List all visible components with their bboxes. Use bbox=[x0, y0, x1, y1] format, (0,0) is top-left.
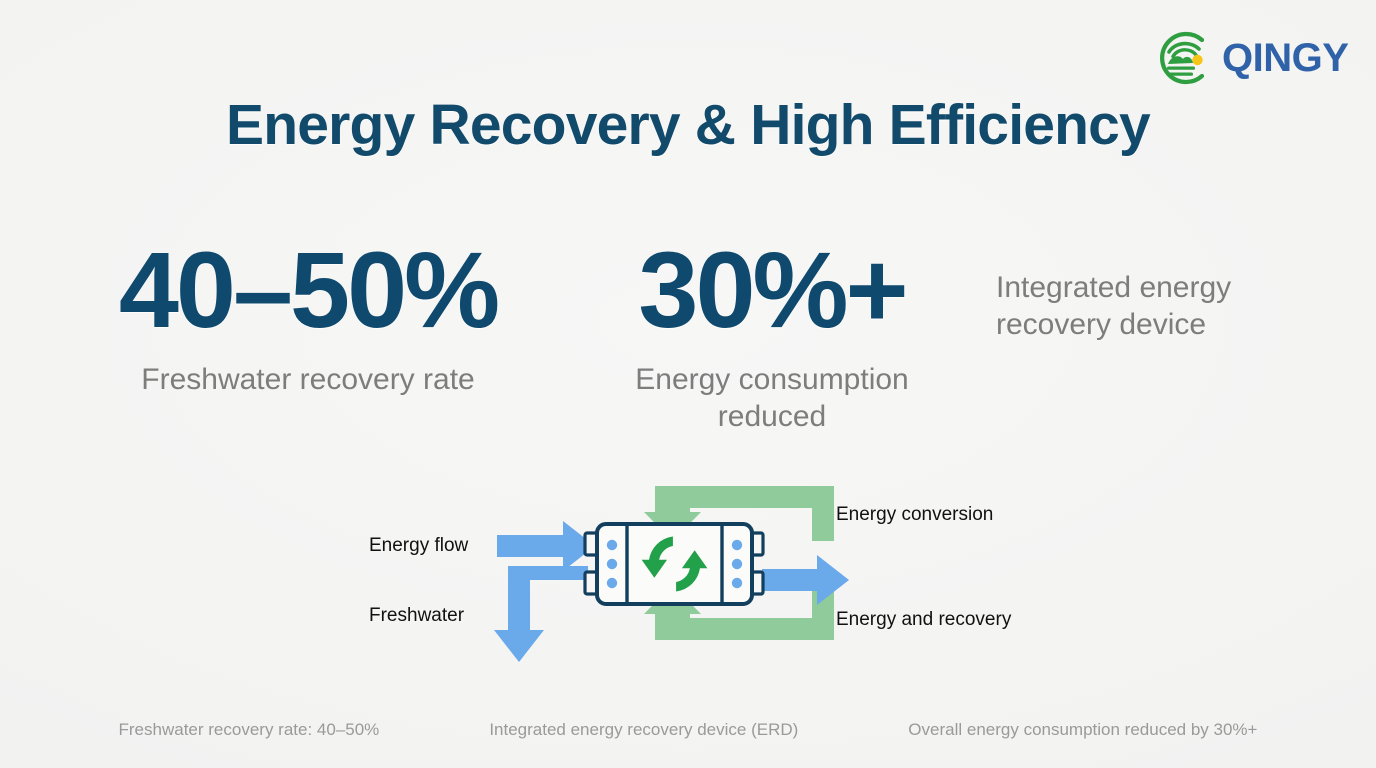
freshwater-arrow bbox=[494, 566, 588, 662]
stat-energy-reduction: 30%+ Energy consumption reduced bbox=[592, 236, 952, 435]
diagram-label-energy-and-recovery: Energy and recovery bbox=[836, 609, 1011, 631]
stat-value: 40–50% bbox=[78, 236, 538, 344]
recycle-arrows-icon bbox=[642, 536, 708, 591]
brand-logo: QINGY bbox=[1152, 26, 1348, 90]
footer-note-item: Freshwater recovery rate: 40–50% bbox=[119, 720, 380, 740]
energy-flow-arrow bbox=[497, 521, 595, 571]
energy-recovery-device-icon bbox=[585, 524, 763, 604]
diagram-label-energy-conversion: Energy conversion bbox=[836, 504, 993, 526]
diagram-label-freshwater: Freshwater bbox=[369, 605, 464, 627]
stat-integrated-device: Integrated energy recovery device bbox=[996, 270, 1326, 343]
stat-label: Freshwater recovery rate bbox=[78, 362, 538, 399]
stat-value: 30%+ bbox=[592, 236, 952, 344]
brand-name: QINGY bbox=[1222, 38, 1348, 78]
green-loop-bottom-path bbox=[644, 585, 834, 640]
footer-note-item: Integrated energy recovery device (ERD) bbox=[489, 720, 798, 740]
slide-canvas: QINGY Energy Recovery & High Efficiency … bbox=[0, 0, 1376, 768]
stat-label: Integrated energy recovery device bbox=[996, 270, 1326, 343]
footer-note-item: Overall energy consumption reduced by 30… bbox=[908, 720, 1257, 740]
page-title: Energy Recovery & High Efficiency bbox=[0, 92, 1376, 158]
qingy-circular-leaf-sun-logo-icon bbox=[1152, 26, 1216, 90]
footer-notes: Freshwater recovery rate: 40–50% Integra… bbox=[0, 720, 1376, 740]
energy-output-arrow bbox=[762, 555, 849, 605]
stats-row: 40–50% Freshwater recovery rate 30%+ Ene… bbox=[0, 236, 1376, 446]
green-loop-top-path bbox=[644, 486, 834, 541]
diagram-label-energy-flow: Energy flow bbox=[369, 535, 468, 557]
stat-freshwater-recovery: 40–50% Freshwater recovery rate bbox=[78, 236, 538, 399]
stat-label: Energy consumption reduced bbox=[592, 362, 952, 435]
